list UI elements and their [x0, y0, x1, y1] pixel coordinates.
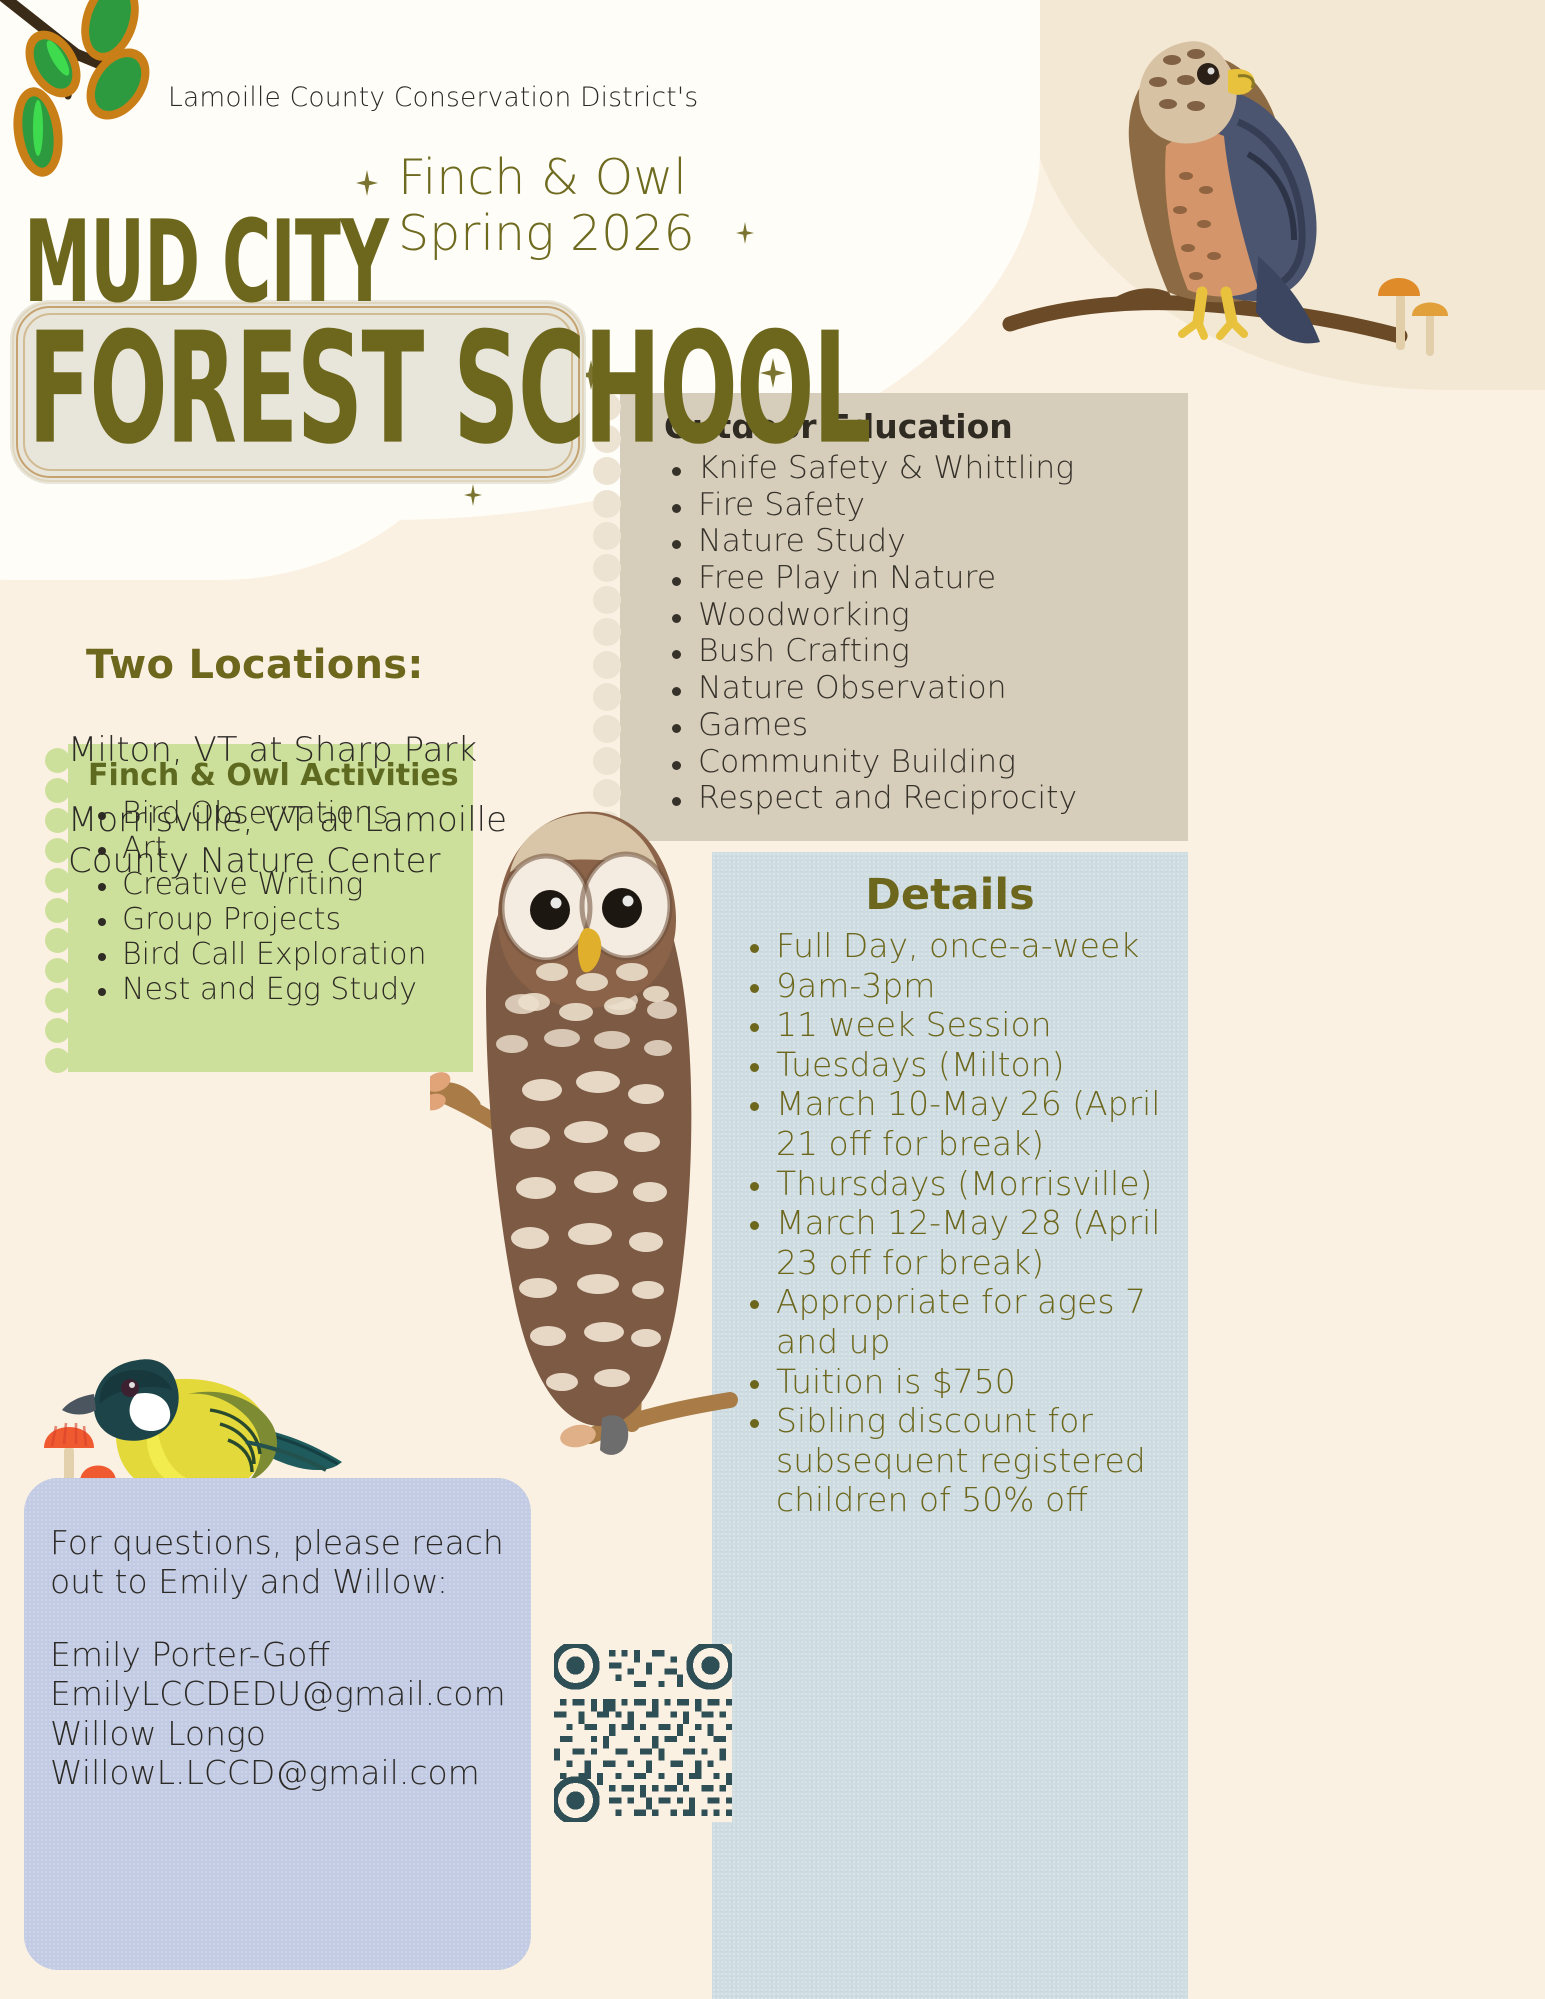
sparkle-icon — [736, 222, 754, 244]
scallop-dot — [45, 838, 70, 863]
outdoor-education-list-item: Fire Safety — [698, 487, 1188, 524]
activities-list-item: Bird Call Exploration — [122, 937, 473, 972]
outdoor-education-list-item: Nature Observation — [698, 670, 1188, 707]
outdoor-education-list-item: Free Play in Nature — [698, 560, 1188, 597]
details-list: Full Day, once-a-week9am-3pm11 week Sess… — [712, 926, 1188, 1520]
outdoor-education-list-item: Bush Crafting — [698, 633, 1188, 670]
contact-person-2-name: Willow Longo — [50, 1714, 521, 1753]
details-list-item: Tuesdays (Milton) — [776, 1045, 1172, 1085]
details-list-item: 11 week Session — [776, 1005, 1172, 1045]
details-list-item: March 10-May 26 (April 21 off for break) — [776, 1084, 1172, 1163]
details-title: Details — [712, 852, 1188, 920]
details-list-item: March 12-May 28 (April 23 off for break) — [776, 1203, 1172, 1282]
activities-list-item: Group Projects — [122, 902, 473, 937]
scallop-dot — [45, 988, 70, 1013]
contact-intro-text: For questions, please reach out to Emily… — [24, 1478, 531, 1601]
outdoor-education-list-item: Community Building — [698, 744, 1188, 781]
scallop-dot — [593, 586, 621, 614]
organization-kicker: Lamoille County Conservation District's — [168, 82, 698, 113]
activities-list-item: Nest and Egg Study — [122, 972, 473, 1007]
location-item-2: Morrisville, VT at Lamoille County Natur… — [68, 800, 608, 883]
poster-canvas: Lamoille County Conservation District's … — [0, 0, 1545, 1999]
scallop-dot — [45, 748, 70, 773]
sparkle-icon — [464, 484, 482, 506]
scallop-dot — [45, 808, 70, 833]
contact-card: For questions, please reach out to Emily… — [24, 1478, 531, 1970]
scallop-dot — [45, 898, 70, 923]
contact-person-2-email[interactable]: WillowL.LCCD@gmail.com — [50, 1753, 521, 1792]
qr-code[interactable] — [554, 1644, 732, 1822]
program-name: Finch & Owl — [398, 149, 687, 206]
sparkle-icon — [356, 170, 378, 196]
details-list-item: Tuition is $750 — [776, 1362, 1172, 1402]
hawk-illustration — [990, 4, 1410, 364]
contact-person-1-name: Emily Porter-Goff — [50, 1635, 521, 1674]
outdoor-education-list-item: Nature Study — [698, 523, 1188, 560]
scallop-dot — [593, 715, 621, 743]
details-card: Details Full Day, once-a-week9am-3pm11 w… — [712, 852, 1188, 1999]
details-list-item: Appropriate for ages 7 and up — [776, 1282, 1172, 1361]
contact-people: Emily Porter-Goff EmilyLCCDEDU@gmail.com… — [24, 1635, 531, 1792]
scallop-dot — [45, 1018, 70, 1043]
scallop-dot — [45, 1048, 70, 1073]
program-season: Spring 2026 — [398, 206, 695, 262]
contact-person-1-email[interactable]: EmilyLCCDEDU@gmail.com — [50, 1674, 521, 1713]
mushrooms-illustration-right — [1368, 240, 1458, 360]
scallop-dot — [593, 490, 621, 518]
outdoor-education-list-item: Games — [698, 707, 1188, 744]
details-list-item: 9am-3pm — [776, 966, 1172, 1006]
details-list-item: Full Day, once-a-week — [776, 926, 1172, 966]
brand-name-line2: FOREST SCHOOL — [28, 300, 870, 479]
scallop-dot — [45, 928, 70, 953]
owl-illustration — [430, 790, 760, 1490]
scallop-dot — [593, 651, 621, 679]
scallop-dot — [593, 683, 621, 711]
outdoor-education-list-item: Respect and Reciprocity — [698, 780, 1188, 817]
scallop-dot — [593, 554, 621, 582]
scallop-dot — [593, 522, 621, 550]
details-list-item: Thursdays (Morrisville) — [776, 1164, 1172, 1204]
outdoor-education-list: Knife Safety & WhittlingFire SafetyNatur… — [620, 450, 1188, 817]
locations-title: Two Locations: — [86, 642, 424, 688]
location-item-1: Milton, VT at Sharp Park — [68, 730, 477, 771]
scallop-dot — [45, 778, 70, 803]
scallop-dot — [593, 747, 621, 775]
outdoor-education-list-item: Woodworking — [698, 597, 1188, 634]
details-list-item: Sibling discount for subsequent register… — [776, 1401, 1172, 1520]
scallop-dot — [593, 618, 621, 646]
activities-card: Finch & Owl Activities Bird Observations… — [68, 744, 473, 1072]
scallop-edge-decoration — [52, 748, 70, 1063]
program-season-title: Finch & Owl Spring 2026 — [398, 150, 695, 262]
scallop-dot — [45, 958, 70, 983]
scallop-dot — [45, 868, 70, 893]
